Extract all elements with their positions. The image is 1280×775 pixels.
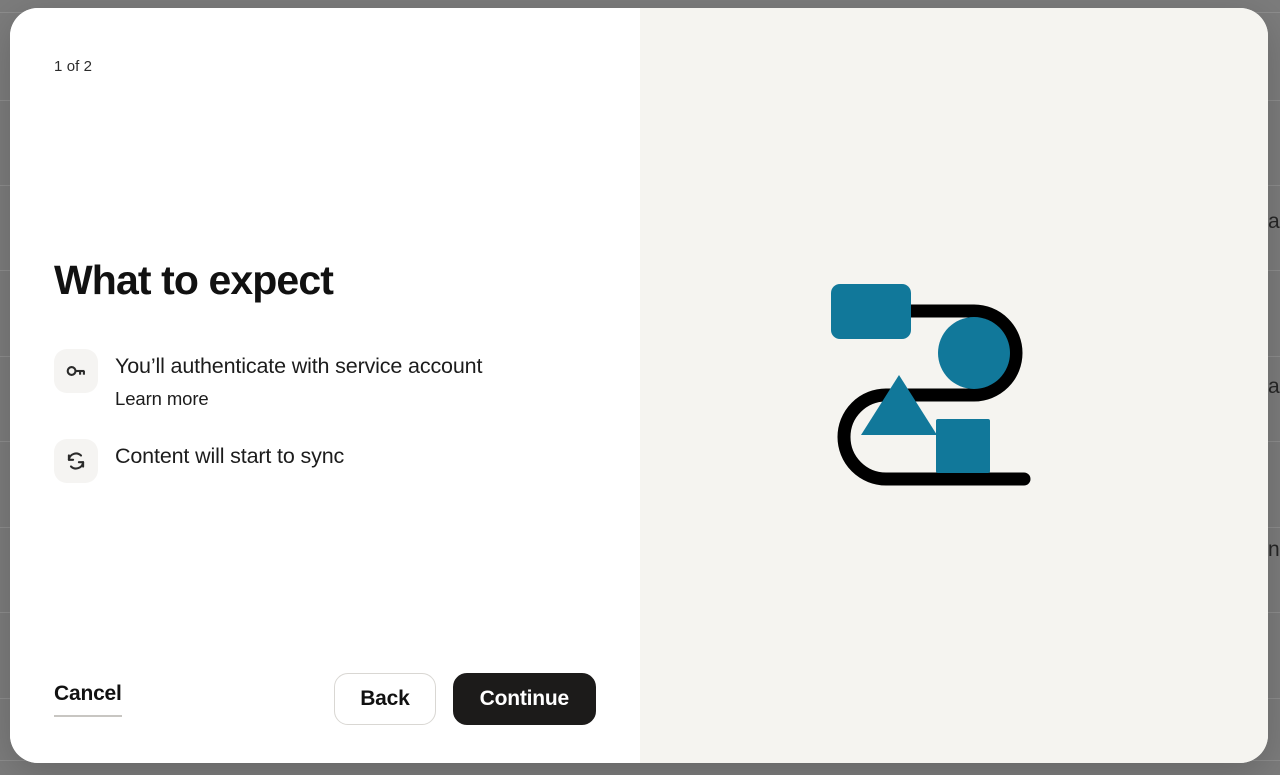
backdrop-text-fragment: n (1268, 538, 1280, 562)
shape-triangle (861, 375, 937, 435)
shape-circle (938, 317, 1010, 389)
workflow-shapes-illustration (824, 271, 1084, 501)
sync-icon (54, 439, 98, 483)
list-item-text: Content will start to sync (115, 437, 344, 470)
continue-button[interactable]: Continue (453, 673, 596, 725)
cancel-button[interactable]: Cancel (54, 682, 122, 717)
dialog-illustration-pane (640, 8, 1268, 763)
list-item: Content will start to sync (54, 437, 599, 483)
learn-more-link[interactable]: Learn more (115, 387, 209, 411)
list-item-label: You’ll authenticate with service account (115, 354, 482, 378)
expectation-list: You’ll authenticate with service account… (54, 347, 599, 483)
list-item: You’ll authenticate with service account… (54, 347, 599, 411)
dialog-left-pane: 1 of 2 What to expect You’ll (10, 8, 640, 763)
backdrop-text-fragment: a (1268, 210, 1280, 234)
list-item-label: Content will start to sync (115, 444, 344, 468)
shape-square (936, 419, 990, 473)
key-icon (54, 349, 98, 393)
setup-wizard-dialog: 1 of 2 What to expect You’ll (10, 8, 1268, 763)
dialog-footer-actions: Back Continue (334, 673, 596, 725)
step-counter: 1 of 2 (54, 58, 92, 75)
shape-rounded-rectangle (831, 284, 911, 339)
back-button[interactable]: Back (334, 673, 435, 725)
backdrop-text-fragment: a (1268, 375, 1280, 399)
dialog-footer: Cancel Back Continue (54, 673, 596, 725)
dialog-content: What to expect You’ll authenticate with … (54, 258, 599, 483)
page-title: What to expect (54, 258, 599, 303)
list-item-text: You’ll authenticate with service account… (115, 347, 482, 411)
